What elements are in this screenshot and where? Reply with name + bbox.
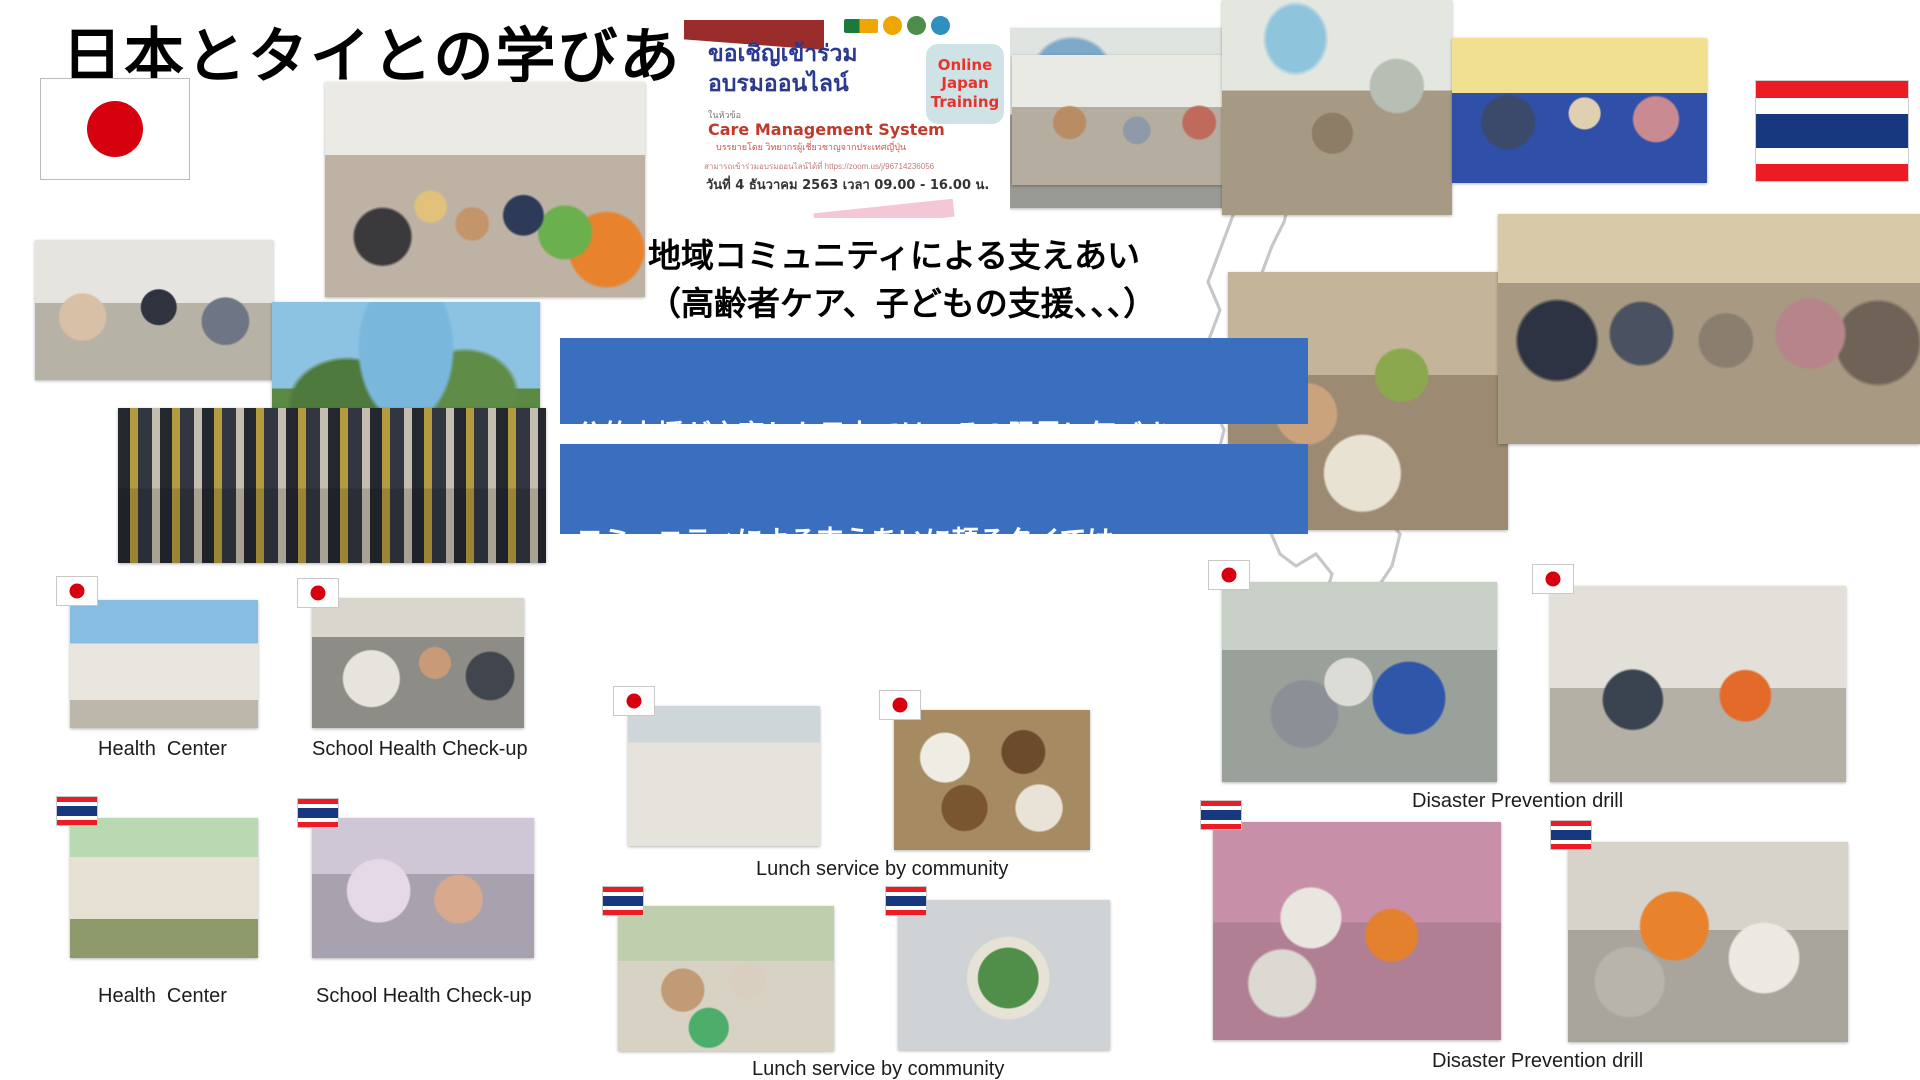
- thailand-flag-badge-lunch-kitchen: [602, 886, 644, 916]
- partner-logo-1-icon: [844, 19, 878, 33]
- japan-flag-badge-health-center: [56, 576, 98, 606]
- photo-japan-outdoor-group: [35, 240, 273, 380]
- body-text-line-2: （高齢者ケア、子どもの支援、、、）: [648, 277, 1156, 325]
- poster-course-subtitle: บรรยายโดย วิทยากรผู้เชี่ยวชาญจากประเทศญี…: [716, 140, 906, 154]
- partner-logo-2-icon: [883, 16, 902, 35]
- caption-jp-lunch-service: Lunch service by community: [756, 858, 1008, 881]
- caption-jp-disaster-drill: Disaster Prevention drill: [1412, 790, 1623, 813]
- caption-jp-health-center: Health Center: [98, 738, 227, 761]
- photo-th-health-center: [70, 818, 258, 958]
- thai-training-poster: ขอเชิญเข้าร่วม อบรมออนไลน์ ในหัวข้อ Care…: [684, 8, 1010, 218]
- presentation-slide: 日本とタイとの学びあい ขอเชิญเข้าร่วม อบรมออนไลน์ ใ…: [0, 0, 1920, 1080]
- photo-thai-group-portrait: [1498, 214, 1920, 444]
- poster-date-line: วันที่ 4 ธันวาคม 2563 เวลา 09.00 - 16.00…: [706, 174, 989, 195]
- poster-logo-row: [844, 16, 950, 35]
- message-box-thailand-line2: その限界に気づき公的支援も重要視されている: [576, 629, 1294, 664]
- message-box-japan: 公的支援が充実した日本では、その限界に気づき、 コミュニティによる支えあいも重要…: [560, 338, 1308, 424]
- caption-th-disaster-drill: Disaster Prevention drill: [1432, 1050, 1643, 1073]
- japan-flag-badge-disaster-hose: [1532, 564, 1574, 594]
- thailand-flag-badge-school-checkup: [297, 798, 339, 828]
- photo-th-school-checkup: [312, 818, 534, 958]
- poster-decoration-band: [813, 199, 954, 218]
- poster-heading-line2: อบรมออนไลน์: [708, 70, 849, 99]
- japan-flag-icon: [40, 78, 190, 180]
- message-box-thailand: コミュニティによる支えあいに頼るタイでは、 その限界に気づき公的支援も重要視され…: [560, 444, 1308, 534]
- japan-flag-badge-disaster-stairs: [1208, 560, 1250, 590]
- thailand-flag-icon: [1755, 80, 1909, 182]
- message-box-thailand-line1: コミュニティによる支えあいに頼るタイでは、: [576, 524, 1294, 559]
- photo-thai-classroom-meeting: [1012, 55, 1252, 185]
- caption-th-lunch-service: Lunch service by community: [752, 1058, 1004, 1080]
- photo-thai-online-session: [1222, 0, 1452, 215]
- photo-th-lunch-pot: [898, 900, 1110, 1050]
- photo-th-disaster-first-aid: [1213, 822, 1501, 1040]
- photo-jp-lunch-plates: [894, 710, 1090, 850]
- caption-jp-school-checkup: School Health Check-up: [312, 738, 528, 761]
- japan-flag-badge-lunch-truck: [613, 686, 655, 716]
- badge-line-3: Training: [931, 94, 999, 111]
- photo-jp-health-center: [70, 600, 258, 728]
- partner-logo-3-icon: [907, 16, 926, 35]
- photo-jp-school-checkup: [312, 598, 524, 728]
- japan-flag-badge-lunch-plates: [879, 690, 921, 720]
- japan-flag-badge-school-checkup: [297, 578, 339, 608]
- thailand-flag-badge-disaster-first-aid: [1200, 800, 1242, 830]
- photo-th-disaster-rescue: [1568, 842, 1848, 1042]
- online-japan-training-badge: Online Japan Training: [926, 44, 1004, 124]
- photo-jp-disaster-hose: [1550, 586, 1846, 782]
- photo-japan-training-group: [325, 82, 645, 297]
- partner-logo-4-icon: [931, 16, 950, 35]
- poster-course-title: Care Management System: [708, 120, 945, 139]
- caption-th-school-checkup: School Health Check-up: [316, 985, 532, 1008]
- body-text-line-1: 地域コミュニティによる支えあい: [648, 229, 1140, 277]
- photo-japan-large-group-photo: [118, 408, 546, 563]
- photo-th-lunch-kitchen: [618, 906, 834, 1051]
- thailand-flag-badge-lunch-pot: [885, 886, 927, 916]
- thailand-flag-badge-disaster-rescue: [1550, 820, 1592, 850]
- thailand-flag-badge-health-center: [56, 796, 98, 826]
- photo-jp-lunch-truck: [628, 706, 820, 846]
- poster-heading-line1: ขอเชิญเข้าร่วม: [708, 40, 858, 69]
- badge-line-2: Japan: [941, 75, 988, 92]
- photo-jp-disaster-stairs: [1222, 582, 1497, 782]
- poster-register-line: สามารถเข้าร่วมอบรมออนไลน์ได้ที่ https://…: [704, 160, 934, 173]
- caption-th-health-center: Health Center: [98, 985, 227, 1008]
- badge-line-1: Online: [938, 57, 993, 74]
- photo-thai-community-table: [1452, 38, 1707, 183]
